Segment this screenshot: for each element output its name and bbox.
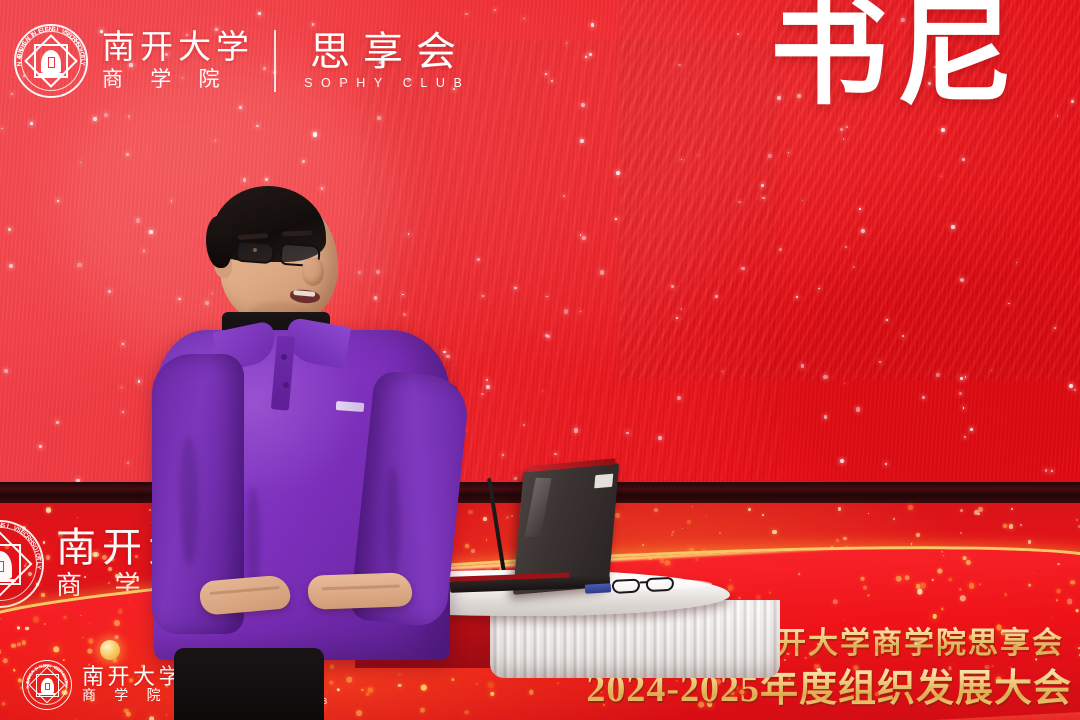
speaker-eyebrow-right [282,230,312,236]
club-name-en: SOPHY CLUB [296,76,471,90]
speaker-nose [302,258,324,286]
seal-bell-inner-mark [0,561,4,572]
laptop-sticker [594,474,613,489]
seal-bell-icon [41,50,61,73]
speaker-lens-bridge [274,248,282,251]
club-name-cn: 思享会 [297,32,469,72]
laptop-lid-gleam [525,478,552,537]
speaker-lens-left [235,241,274,265]
speaker-person [150,186,480,666]
eyeglasses-lens-left [612,579,641,594]
seal-bell-inner-mark [48,57,55,68]
school-name-cn-bottom: 商 学 院 [82,689,184,705]
eyeglasses-bridge [640,581,648,584]
speaker-facial-mole [253,248,257,252]
university-name-cn: 南开大学 [102,31,254,66]
nankai-business-school-seal-icon-bottom: NANKAI UNIVERSITY BUSINESS SCHOOL [22,660,72,710]
speaker-polo-button-bottom [283,382,289,388]
speaker-trousers [174,648,324,720]
club-name-block: 思享会 SOPHY CLUB [296,32,471,90]
school-name-cn: 商 学 院 [102,67,254,91]
brand-logo-lockup-top: NANKAI UNIVERSITY BUSINESS SCHOOL 南开大学 商… [14,24,470,98]
backdrop-headline-cropped: 书尼 [770,0,1022,127]
speaker-hand-right [307,572,412,610]
seal-bell-icon [41,678,54,693]
speaker-polo-button-top [281,354,287,360]
gold-accent-dot [100,640,120,660]
speaker-chest-embroidery [336,401,365,412]
event-photo-stage: 书尼 NANKAI UNIVERSITY BUSINESS SCHOOL 南开大… [0,0,1080,720]
seal-bell-inner-mark [45,683,50,690]
school-name-block: 南开大学 商 学 院 [102,31,254,91]
shirt-fold-3 [386,466,400,576]
university-name-cn-bottom: 南开大学 [82,665,184,688]
nankai-business-school-seal-icon: NANKAI UNIVERSITY BUSINESS SCHOOL [14,24,88,98]
eyeglasses-lens-right [646,577,675,592]
logo-vertical-divider [274,30,276,92]
nankai-business-school-seal-icon-mid: NANKAI UNIVERSITY BUSINESS SCHOOL [0,520,44,608]
school-name-block-bottom: 南开大学 商 学 院 [82,665,184,705]
event-title: 南开大学商学院思享会 [744,618,1064,662]
shirt-fold-1 [180,436,198,566]
usb-flash-drive [585,583,611,593]
